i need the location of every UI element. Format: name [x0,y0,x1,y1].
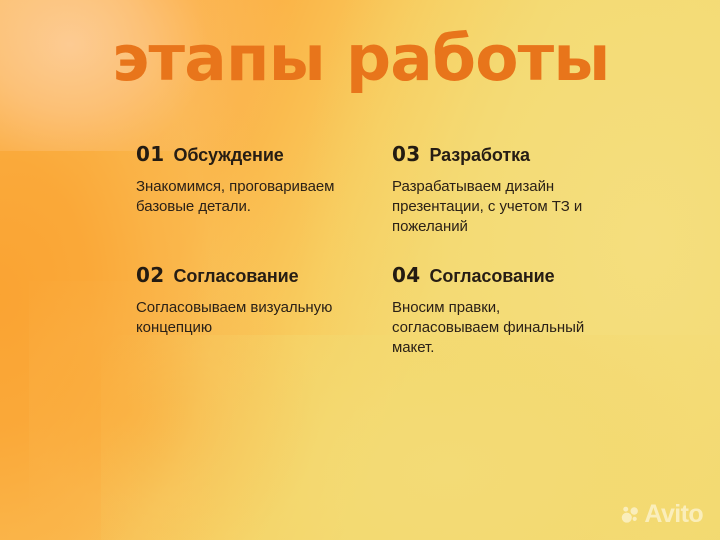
step-number: 03 [392,142,420,166]
step-description: Знакомимся, проговариваем базовые детали… [136,177,354,217]
step-number: 01 [136,142,164,166]
step-item-04: 04 Согласование Вносим правки, согласовы… [392,263,604,358]
step-title: Разработка [429,145,529,166]
page-title: этапы работы [112,26,610,92]
step-heading: 04 Согласование [392,263,604,287]
step-title: Обсуждение [173,145,283,166]
step-item-02: 02 Согласование Согласовываем визуальную… [136,263,354,358]
step-heading: 03 Разработка [392,142,604,166]
step-title: Согласование [429,266,554,287]
step-item-03: 03 Разработка Разрабатываем дизайн презе… [392,142,604,237]
step-heading: 02 Согласование [136,263,354,287]
step-number: 02 [136,263,164,287]
step-item-01: 01 Обсуждение Знакомимся, проговариваем … [136,142,354,237]
step-description: Согласовываем визуальную концепцию [136,298,354,338]
steps-list: 01 Обсуждение Знакомимся, проговариваем … [136,142,604,358]
step-title: Согласование [173,266,298,287]
step-number: 04 [392,263,420,287]
step-description: Вносим правки, согласовываем финальный м… [392,298,604,358]
step-heading: 01 Обсуждение [136,142,354,166]
step-description: Разрабатываем дизайн презентации, с учет… [392,177,604,237]
slide-canvas: этапы работы 01 Обсуждение Знакомимся, п… [0,0,720,540]
